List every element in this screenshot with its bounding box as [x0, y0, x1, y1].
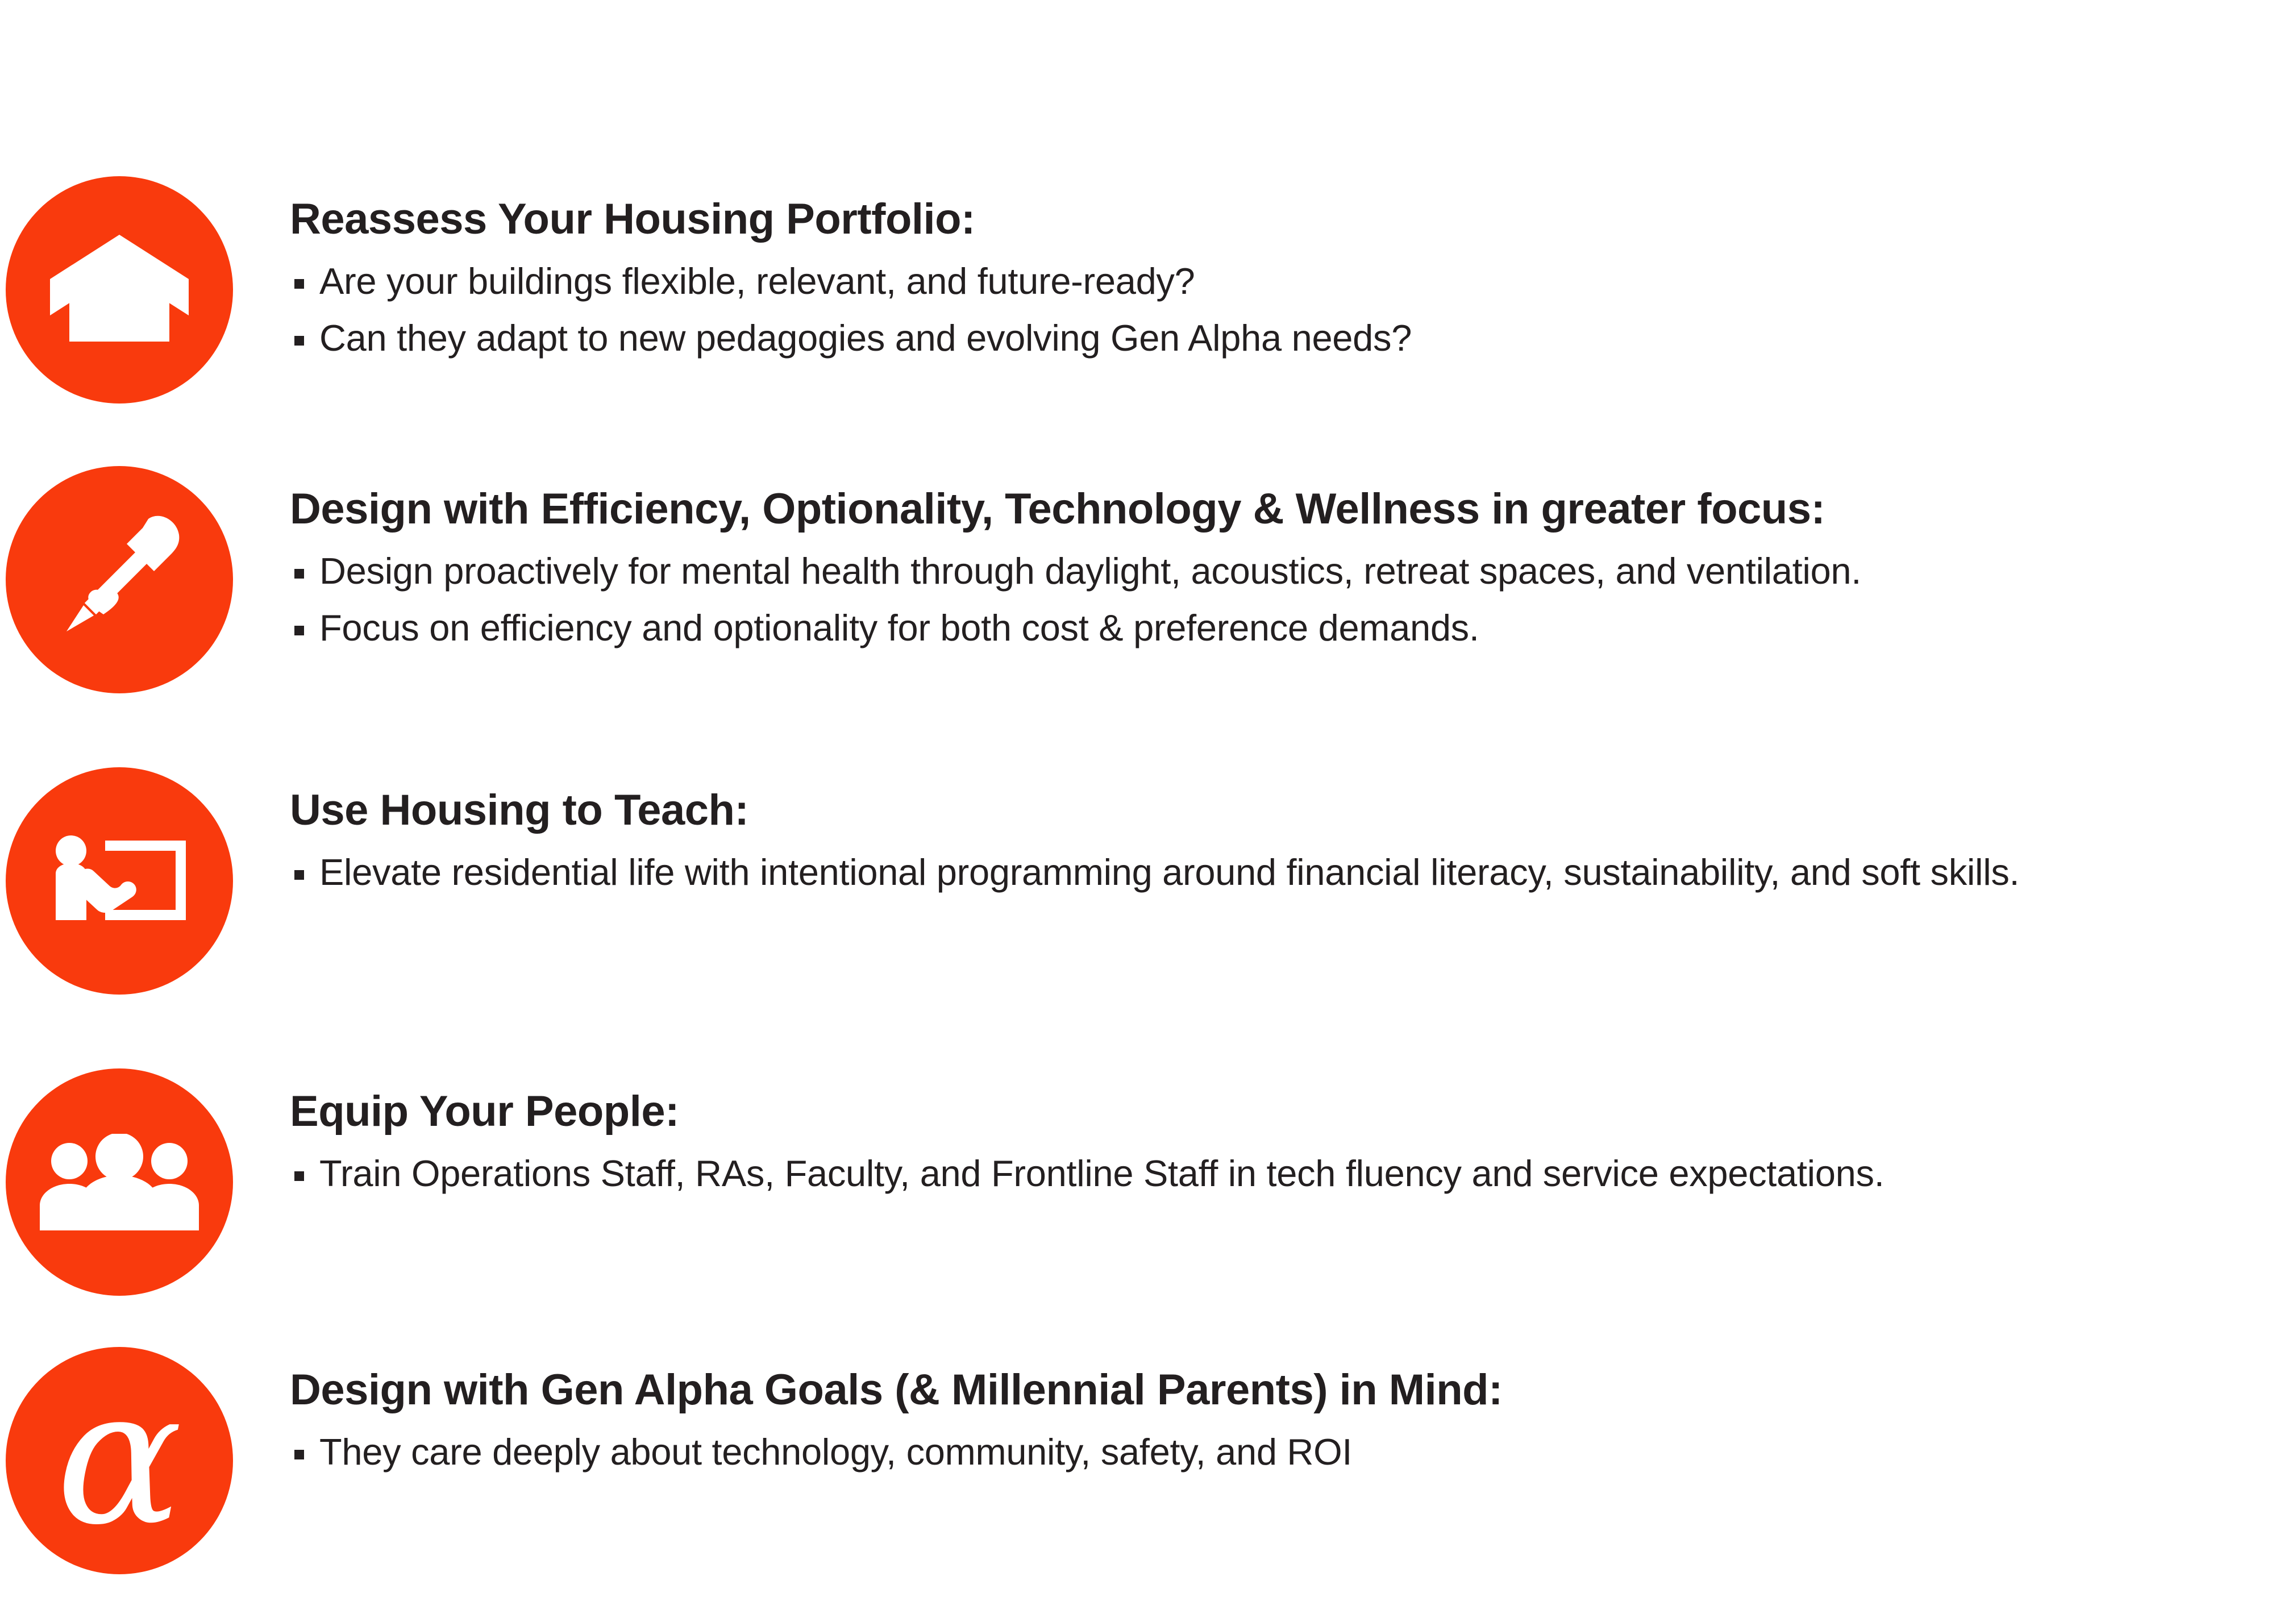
bullet-list: Are your buildings flexible, relevant, a… [290, 257, 2296, 363]
bullet-text: They care deeply about technology, commu… [319, 1431, 1352, 1473]
bullet-list: Train Operations Staff, RAs, Faculty, an… [290, 1150, 2296, 1198]
recommendation-text: Equip Your People: Train Operations Staf… [233, 1068, 2296, 1197]
bullet-list: Design proactively for mental health thr… [290, 547, 2296, 652]
recommendation-text: Use Housing to Teach: Elevate residentia… [233, 767, 2296, 896]
section-heading: Design with Efficiency, Optionality, Tec… [290, 486, 2296, 533]
teacher-whiteboard-icon [48, 833, 190, 929]
bullet-text: Can they adapt to new pedagogies and evo… [319, 317, 1412, 359]
bullet-text: Elevate residential life with intentiona… [319, 851, 2019, 893]
list-item: Can they adapt to new pedagogies and evo… [290, 314, 2296, 363]
house-icon-badge [6, 176, 233, 404]
bullet-square-icon [294, 1171, 304, 1181]
recommendation-section: Use Housing to Teach: Elevate residentia… [0, 767, 2296, 995]
recommendation-section: Reassess Your Housing Portfolio: Are you… [0, 176, 2296, 404]
section-heading: Use Housing to Teach: [290, 788, 2296, 834]
section-heading: Design with Gen Alpha Goals (& Millennia… [290, 1367, 2296, 1413]
list-item: Are your buildings flexible, relevant, a… [290, 257, 2296, 306]
teacher-whiteboard-icon-badge [6, 767, 233, 995]
slide-canvas: Reassess Your Housing Portfolio: Are you… [0, 0, 2296, 1597]
list-item: Elevate residential life with intentiona… [290, 849, 2296, 897]
section-heading: Reassess Your Housing Portfolio: [290, 197, 2296, 243]
section-heading: Equip Your People: [290, 1089, 2296, 1135]
people-group-icon [40, 1134, 199, 1230]
pencil-heart-icon-badge [6, 466, 233, 693]
bullet-square-icon [294, 279, 304, 289]
recommendation-section: α Design with Gen Alpha Goals (& Millenn… [0, 1347, 2296, 1574]
list-item: Design proactively for mental health thr… [290, 547, 2296, 596]
bullet-list: They care deeply about technology, commu… [290, 1428, 2296, 1477]
bullet-list: Elevate residential life with intentiona… [290, 849, 2296, 897]
recommendation-section: Equip Your People: Train Operations Staf… [0, 1068, 2296, 1296]
bullet-text: Are your buildings flexible, relevant, a… [319, 260, 1195, 302]
bullet-text: Design proactively for mental health thr… [319, 550, 1861, 592]
bullet-square-icon [294, 1450, 304, 1459]
recommendation-text: Reassess Your Housing Portfolio: Are you… [233, 176, 2296, 363]
pencil-heart-icon [54, 514, 185, 645]
recommendation-text: Design with Gen Alpha Goals (& Millennia… [233, 1347, 2296, 1476]
bullet-square-icon [294, 626, 304, 635]
house-icon [45, 230, 193, 350]
list-item: Train Operations Staff, RAs, Faculty, an… [290, 1150, 2296, 1198]
people-group-icon-badge [6, 1068, 233, 1296]
bullet-text: Train Operations Staff, RAs, Faculty, an… [319, 1153, 1884, 1194]
alpha-icon-badge: α [6, 1347, 233, 1574]
bullet-square-icon [294, 870, 304, 880]
recommendation-section: Design with Efficiency, Optionality, Tec… [0, 466, 2296, 693]
bullet-square-icon [294, 336, 304, 346]
bullet-square-icon [294, 569, 304, 579]
recommendation-text: Design with Efficiency, Optionality, Tec… [233, 466, 2296, 652]
bullet-text: Focus on efficiency and optionality for … [319, 607, 1479, 648]
alpha-icon: α [56, 1363, 183, 1551]
list-item: They care deeply about technology, commu… [290, 1428, 2296, 1477]
list-item: Focus on efficiency and optionality for … [290, 604, 2296, 652]
